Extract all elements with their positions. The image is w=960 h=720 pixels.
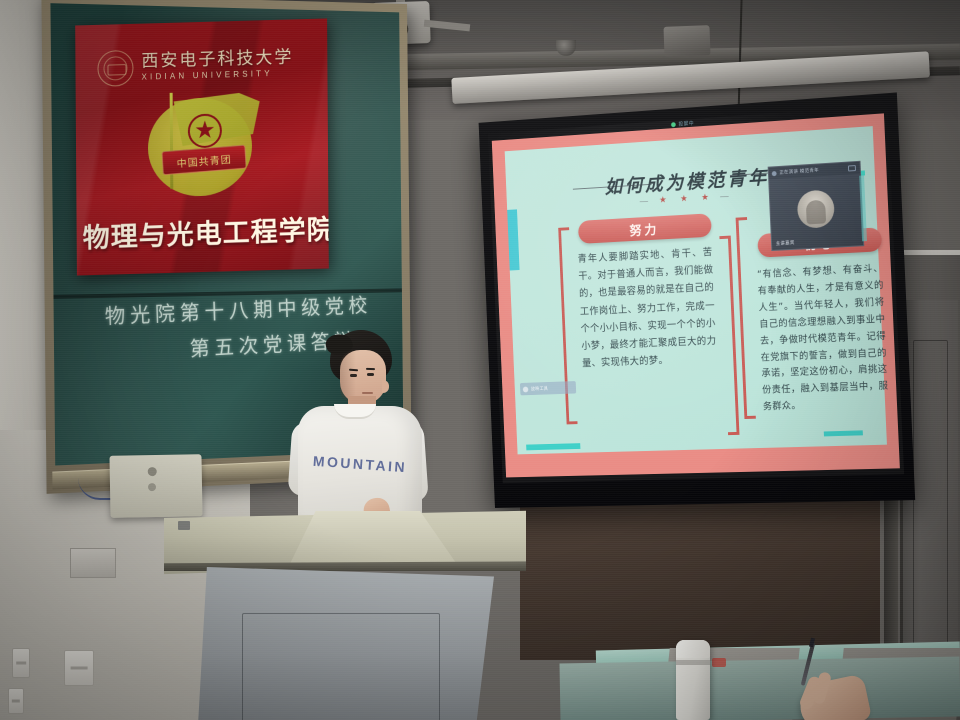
video-conference-minimize-icon[interactable] (848, 165, 856, 171)
column-bracket-left (736, 217, 756, 419)
classroom-photo-scene: 物光院第十八期中级党校 第五次党课答辩 西安电子科技大学 XIDIAN UNIV… (0, 0, 960, 720)
youth-league-emblem-icon: ★ 中国共青团 (140, 90, 269, 202)
presenter-tool-icon[interactable]: 放映工具 (520, 381, 576, 395)
slide-content-area: 如何成为模范青年 ★ ★ ★ 努力 青年人要脚踏实地、肯干、苦干。对于普通人而言… (505, 126, 887, 454)
video-conference-title: 正在演讲 模范青年 (779, 167, 819, 175)
desk-small-object (712, 658, 726, 667)
thermos-ring (676, 660, 710, 665)
video-conference-panel[interactable]: 正在演讲 模范青年 主讲嘉宾 (768, 161, 865, 251)
column-bracket-left (558, 227, 577, 424)
door-panel (913, 340, 948, 670)
column-heading-pill-effort: 努力 (578, 213, 712, 244)
banner-university-block: 西安电子科技大学 XIDIAN UNIVERSITY (97, 45, 293, 86)
red-banner: 西安电子科技大学 XIDIAN UNIVERSITY ★ 中国共青团 物理与光电… (75, 18, 329, 275)
screen-surface: 投屏中 如何成为模范青年 ★ ★ ★ 努力 (488, 105, 904, 483)
wall-socket-icon[interactable] (12, 648, 30, 678)
presentation-slide: 如何成为模范青年 ★ ★ ★ 努力 青年人要脚踏实地、肯干、苦干。对于普通人而言… (492, 113, 900, 477)
presenter-eye-left (350, 374, 357, 377)
slide-accent-left (507, 209, 519, 270)
banner-university-name-cn: 西安电子科技大学 (141, 49, 293, 71)
wall-socket-icon[interactable] (8, 688, 24, 714)
presenter-person: MOUNTAIN (286, 330, 436, 530)
university-seal-icon (97, 50, 133, 87)
slide-accent-bottom-right (824, 430, 863, 436)
lectern (164, 505, 526, 720)
presenter-ear (382, 380, 389, 393)
podium-badge-icon (178, 521, 190, 530)
emblem-star-icon: ★ (192, 118, 218, 145)
presenter-mouth (362, 392, 373, 394)
presenter-tool-label: 放映工具 (531, 385, 548, 391)
thermos-lid (676, 640, 710, 658)
lectern-front-panel (242, 613, 440, 720)
column-body-effort: 青年人要脚踏实地、肯干、苦干。对于普通人而言，我们能做的，也是最容易的就是在自己… (577, 244, 717, 373)
podium-monitor-button-2[interactable] (148, 483, 156, 491)
presenter-tool-dot (523, 386, 529, 392)
camera-icon (772, 171, 777, 176)
green-status-dot (671, 122, 676, 127)
column-bracket-right (719, 236, 739, 436)
podium-monitor-button-1[interactable] (148, 467, 157, 476)
slide-column-left: 努力 青年人要脚踏实地、肯干、苦干。对于普通人而言，我们能做的，也是最容易的就是… (558, 213, 722, 438)
presenter-brow-right (366, 368, 375, 370)
projection-screen[interactable]: 投屏中 如何成为模范青年 ★ ★ ★ 努力 (479, 92, 916, 508)
column-body-original-aspiration: “有信念、有梦想、有奋斗、有奉献的人生，才是有意义的人生”。当代年轻人，我们将自… (757, 261, 890, 416)
background-dark-area (520, 500, 920, 660)
thermos-bottle-icon (676, 640, 710, 720)
slide-accent-bottom-left (526, 443, 580, 450)
ceiling-speaker-icon (663, 25, 710, 57)
wall-socket-icon[interactable] (64, 650, 94, 686)
wall-panel (70, 548, 116, 578)
user-avatar-icon (797, 189, 835, 229)
foreground-desk (560, 657, 960, 720)
presenter-eye-right (367, 373, 374, 376)
video-conference-participant-name: 主讲嘉宾 (776, 240, 795, 247)
